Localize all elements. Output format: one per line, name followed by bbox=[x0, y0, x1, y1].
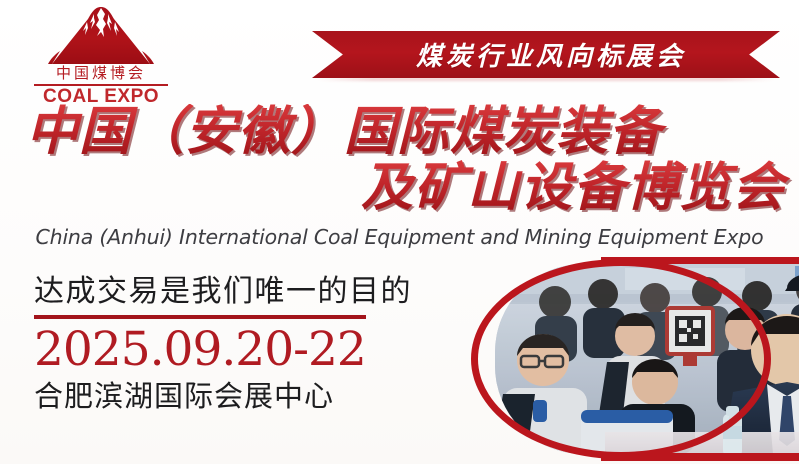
event-venue: 合肥滨湖国际会展中心 bbox=[34, 377, 434, 415]
tagline-ribbon: 煤炭行业风向标展会 bbox=[312, 31, 780, 78]
info-divider bbox=[34, 315, 366, 319]
mountain-icon bbox=[30, 6, 172, 68]
expo-poster: 中国煤博会 COAL EXPO 煤炭行业风向标展会 中国（安徽）国际煤炭装备 及… bbox=[0, 0, 799, 464]
photo-top-bar bbox=[601, 257, 799, 264]
photo-bottom-bar bbox=[601, 453, 799, 461]
logo-chinese-text: 中国煤博会 bbox=[30, 64, 172, 83]
ribbon-label: 煤炭行业风向标展会 bbox=[406, 36, 686, 73]
title-line-2: 及矿山设备博览会 bbox=[0, 160, 799, 216]
slogan-text: 达成交易是我们唯一的目的 bbox=[34, 272, 434, 312]
event-dates: 2025.09.20-22 bbox=[34, 324, 434, 376]
main-title: 中国（安徽）国际煤炭装备 及矿山设备博览会 bbox=[0, 104, 799, 216]
audience-photo-frame bbox=[471, 257, 799, 464]
photo-oval-border bbox=[471, 259, 771, 459]
event-info-block: 达成交易是我们唯一的目的 2025.09.20-22 合肥滨湖国际会展中心 bbox=[34, 272, 434, 415]
english-subtitle: China (Anhui) International Coal Equipme… bbox=[0, 225, 799, 249]
brand-logo[interactable]: 中国煤博会 COAL EXPO bbox=[30, 6, 172, 106]
title-line-1: 中国（安徽）国际煤炭装备 bbox=[0, 104, 799, 160]
